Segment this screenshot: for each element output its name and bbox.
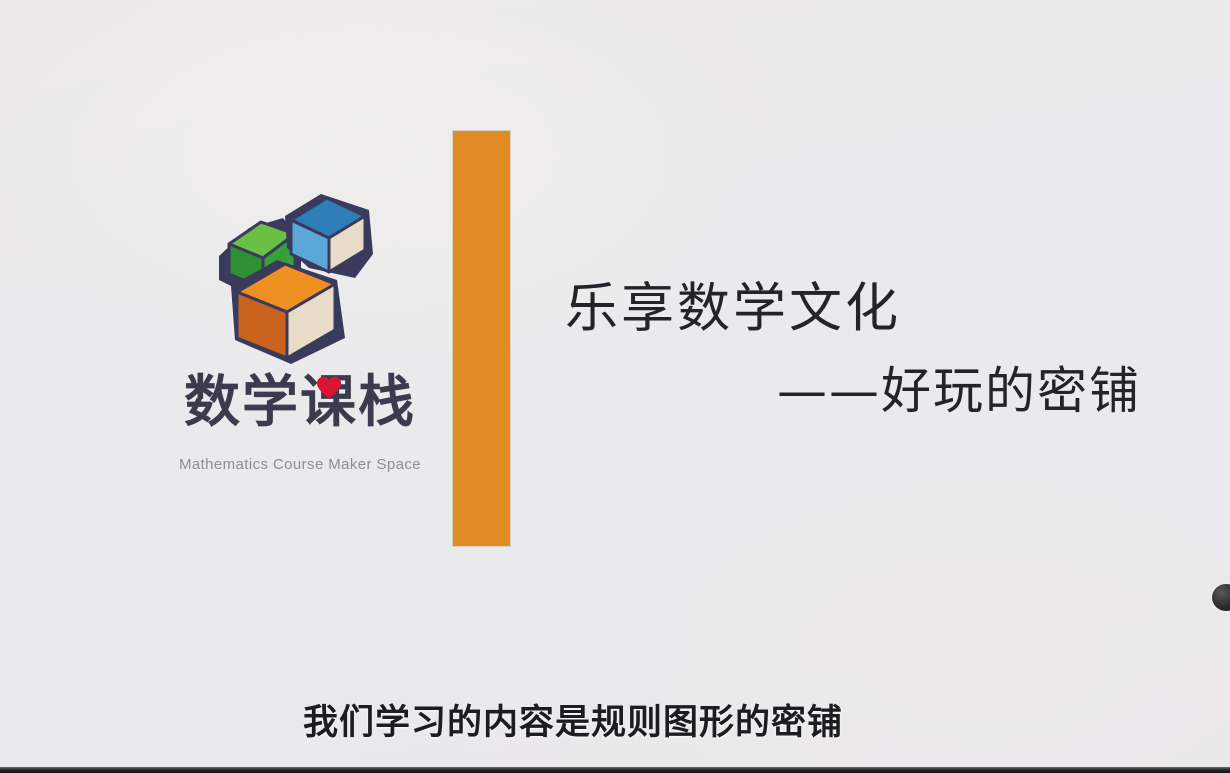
logo-wordmark-char-1: 数 [184, 370, 242, 435]
brand-logo: 数学课栈 Mathematics Course Maker Space [150, 188, 450, 498]
cube-stack-icon [205, 188, 395, 368]
logo-wordmark-char-4: 栈 [358, 370, 416, 435]
title-block: 乐享数学文化 ——好玩的密铺 [565, 278, 1145, 420]
caption-text: 我们学习的内容是规则图形的密铺 [0, 694, 1146, 745]
logo-cubes-mark [150, 188, 450, 378]
slide-subtitle: ——好玩的密铺 [565, 363, 1145, 421]
logo-wordmark: 数学课栈 [150, 374, 450, 433]
video-player-frame: 数学课栈 Mathematics Course Maker Space 乐享数学… [0, 0, 1230, 773]
bottom-letterbox-bar [0, 767, 1230, 773]
logo-wordmark-char-3-wrapper: 课 [300, 374, 358, 433]
accent-bar [453, 131, 510, 546]
logo-wordmark-char-3: 课 [300, 370, 358, 435]
logo-tagline: Mathematics Course Maker Space [150, 456, 450, 473]
slide-title: 乐享数学文化 [565, 278, 1145, 341]
logo-wordmark-char-2: 学 [242, 370, 300, 435]
